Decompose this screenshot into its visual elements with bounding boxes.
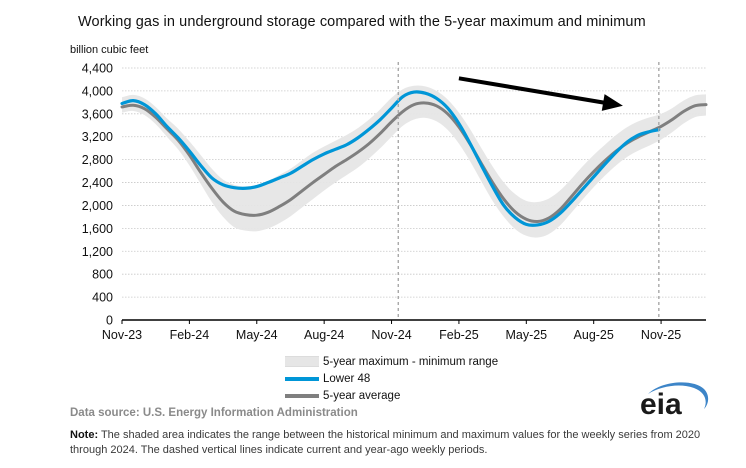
arrow-head-icon: [602, 94, 623, 111]
x-tick-label: Nov-25: [641, 328, 681, 342]
eia-logo: eia: [636, 381, 718, 417]
y-tick-label: 3,200: [82, 130, 113, 144]
y-tick-label: 4,400: [82, 62, 113, 76]
data-source-text: Data source: U.S. Energy Information Adm…: [70, 407, 358, 419]
legend-item-lower48: Lower 48: [285, 371, 498, 386]
y-axis-tick-labels: 04008001,2001,6002,0002,4002,8003,2003,6…: [82, 62, 113, 328]
y-tick-label: 3,600: [82, 107, 113, 121]
y-tick-label: 2,000: [82, 199, 113, 213]
y-tick-label: 1,200: [82, 245, 113, 259]
trend-arrow-annotation: [459, 78, 623, 111]
x-axis-tick-labels: Nov-23Feb-24May-24Aug-24Nov-24Feb-25May-…: [102, 320, 681, 342]
range-band: [122, 85, 706, 237]
legend-label-range: 5-year maximum - minimum range: [323, 356, 498, 368]
x-tick-label: Nov-23: [102, 328, 142, 342]
range-band-area: [122, 85, 706, 237]
y-tick-label: 4,000: [82, 84, 113, 98]
legend-swatch-average-icon: [285, 394, 319, 398]
x-tick-label: May-25: [505, 328, 547, 342]
x-tick-label: Aug-24: [304, 328, 344, 342]
legend-label-average: 5-year average: [323, 390, 400, 402]
y-tick-label: 1,600: [82, 222, 113, 236]
x-tick-label: Aug-25: [574, 328, 614, 342]
y-tick-label: 2,400: [82, 176, 113, 190]
chart-figure: Working gas in underground storage compa…: [0, 0, 746, 468]
legend-item-range: 5-year maximum - minimum range: [285, 354, 498, 369]
y-tick-label: 400: [92, 291, 113, 305]
x-tick-label: Nov-24: [371, 328, 411, 342]
eia-logo-text: eia: [640, 388, 682, 417]
y-tick-label: 0: [106, 314, 113, 328]
legend-label-lower48: Lower 48: [323, 373, 370, 385]
chart-plot-area: 04008001,2001,6002,0002,4002,8003,2003,6…: [0, 0, 746, 350]
chart-legend: 5-year maximum - minimum range Lower 48 …: [285, 354, 498, 405]
y-tick-label: 2,800: [82, 153, 113, 167]
x-tick-label: Feb-25: [439, 328, 479, 342]
legend-swatch-lower48-icon: [285, 377, 319, 381]
note-label: Note:: [70, 429, 98, 441]
note-text: The shaded area indicates the range betw…: [70, 429, 700, 456]
x-tick-label: Feb-24: [170, 328, 210, 342]
x-tick-label: May-24: [236, 328, 278, 342]
legend-swatch-range-icon: [285, 356, 319, 367]
y-tick-label: 800: [92, 268, 113, 282]
chart-note: Note: The shaded area indicates the rang…: [70, 428, 715, 458]
legend-item-average: 5-year average: [285, 388, 498, 403]
